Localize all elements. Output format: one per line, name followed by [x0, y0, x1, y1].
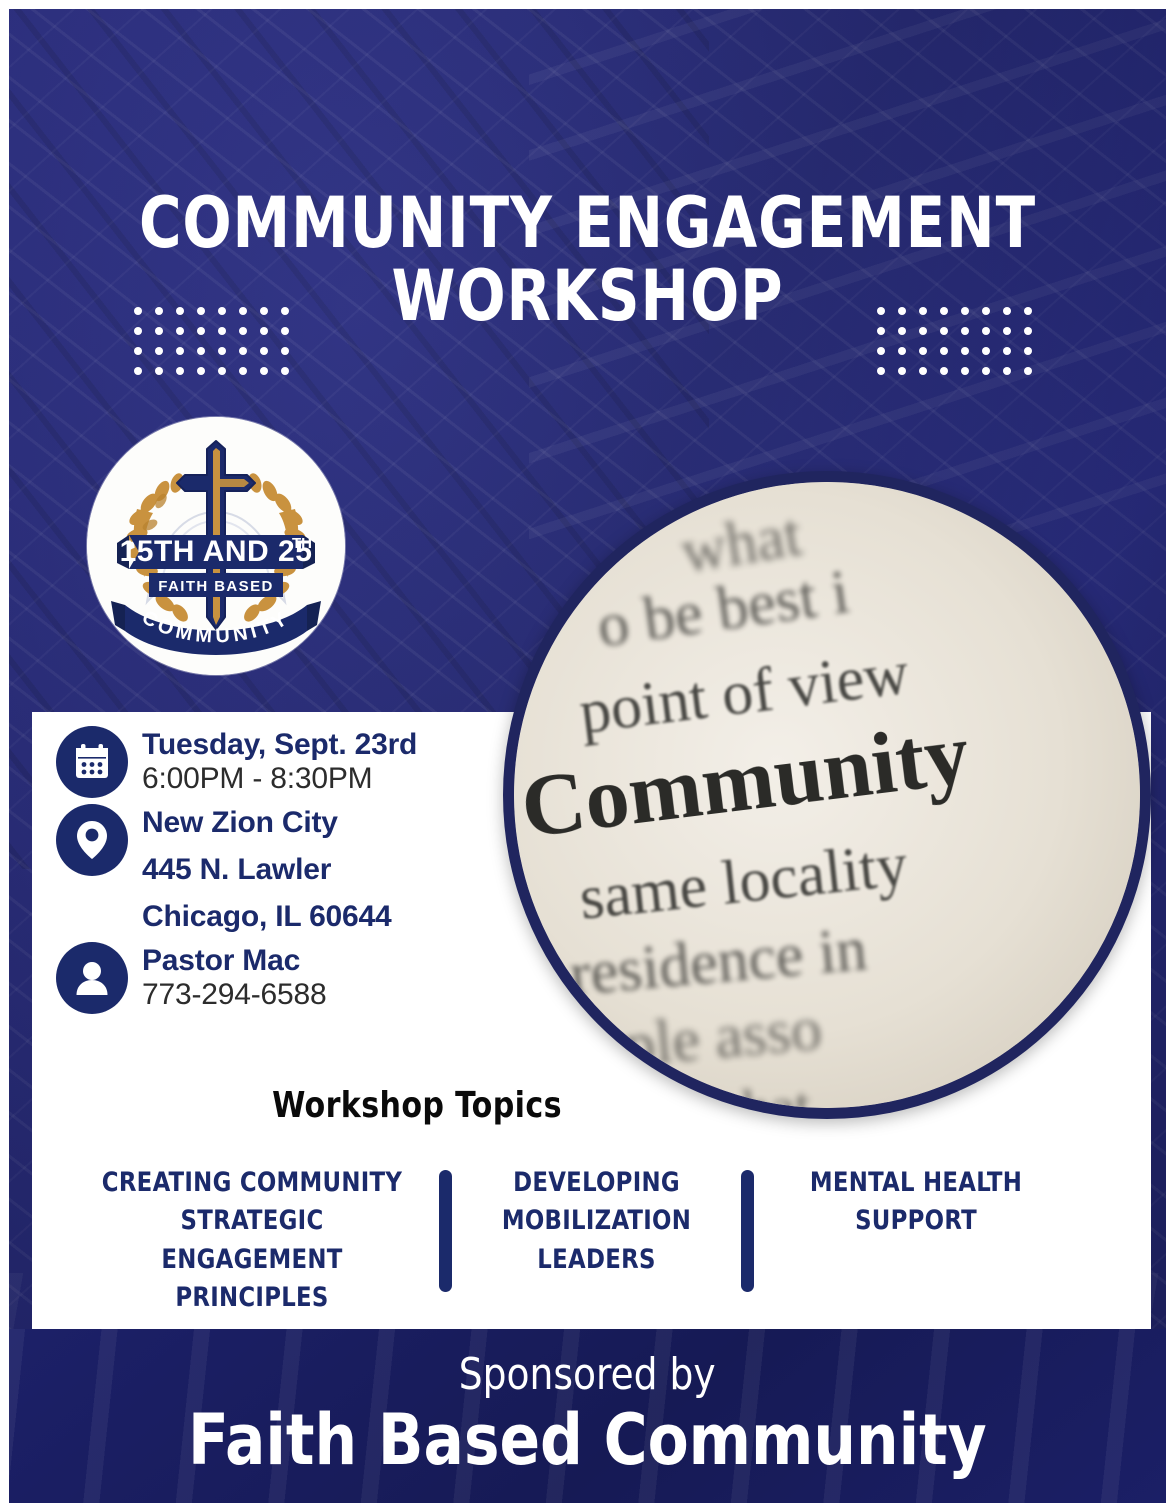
sponsor-footer: Sponsored by Faith Based Community [9, 1329, 1166, 1503]
photo-text-line-8: what [700, 1074, 813, 1108]
event-details: Tuesday, Sept. 23rd 6:00PM - 8:30PM New … [56, 726, 526, 1018]
flyer-page: COMMUNITY ENGAGEMENT WORKSHOP [0, 0, 1175, 1512]
topic-3-line-2: SUPPORT [784, 1202, 1047, 1240]
contact-phone[interactable]: 773-294-6588 [142, 978, 326, 1013]
dot-grid-decoration-left [134, 307, 289, 375]
topic-item-2: DEVELOPING MOBILIZATION LEADERS [481, 1164, 711, 1279]
svg-text:15TH AND 25: 15TH AND 25 [120, 535, 313, 568]
organization-logo: 15TH AND 25 TH FAITH BASED COMMUNITY [87, 417, 345, 675]
svg-text:TH: TH [292, 535, 312, 552]
venue-city-state-zip: Chicago, IL 60644 [142, 900, 392, 934]
detail-row-contact: Pastor Mac 773-294-6588 [56, 942, 526, 1014]
detail-row-location: New Zion City 445 N. Lawler Chicago, IL … [56, 804, 526, 934]
venue-name: New Zion City [142, 806, 392, 840]
detail-row-date: Tuesday, Sept. 23rd 6:00PM - 8:30PM [56, 726, 526, 798]
community-definition-photo: what o be best i point of view Community… [503, 471, 1151, 1119]
topic-3-line-1: MENTAL HEALTH [784, 1164, 1047, 1202]
topic-item-3: MENTAL HEALTH SUPPORT [784, 1164, 1047, 1241]
topic-1-line-2: STRATEGIC ENGAGEMENT [97, 1202, 407, 1279]
topic-2-line-1: DEVELOPING [481, 1164, 711, 1202]
topic-1-line-3: PRINCIPLES [97, 1279, 407, 1317]
poster-background: COMMUNITY ENGAGEMENT WORKSHOP [9, 9, 1166, 1503]
topic-divider-1 [439, 1170, 452, 1292]
topic-item-1: CREATING COMMUNITY STRATEGIC ENGAGEMENT … [97, 1164, 407, 1317]
topics-list: CREATING COMMUNITY STRATEGIC ENGAGEMENT … [87, 1164, 1097, 1317]
event-date: Tuesday, Sept. 23rd [142, 728, 417, 762]
sponsor-name: Faith Based Community [188, 1403, 987, 1479]
event-time: 6:00PM - 8:30PM [142, 762, 417, 797]
svg-text:FAITH BASED: FAITH BASED [158, 578, 273, 595]
topics-heading: Workshop Topics [59, 1085, 775, 1126]
photo-text-line-2: o be best i [593, 557, 854, 663]
calendar-icon [56, 726, 128, 798]
topic-divider-2 [741, 1170, 754, 1292]
location-pin-icon [56, 804, 128, 876]
date-time-text: Tuesday, Sept. 23rd 6:00PM - 8:30PM [142, 726, 417, 796]
topic-2-line-2: MOBILIZATION [481, 1202, 711, 1240]
dot-grid-decoration-right [877, 307, 1032, 375]
title-line-1: COMMUNITY ENGAGEMENT [55, 187, 1119, 260]
photo-inner: what o be best i point of view Community… [514, 482, 1140, 1108]
person-icon [56, 942, 128, 1014]
contact-name: Pastor Mac [142, 944, 326, 978]
sponsored-by-label: Sponsored by [459, 1353, 716, 1397]
location-text: New Zion City 445 N. Lawler Chicago, IL … [142, 804, 392, 934]
venue-street: 445 N. Lawler [142, 853, 392, 887]
topic-2-line-3: LEADERS [481, 1241, 711, 1279]
contact-text: Pastor Mac 773-294-6588 [142, 942, 326, 1012]
topic-1-line-1: CREATING COMMUNITY [97, 1164, 407, 1202]
